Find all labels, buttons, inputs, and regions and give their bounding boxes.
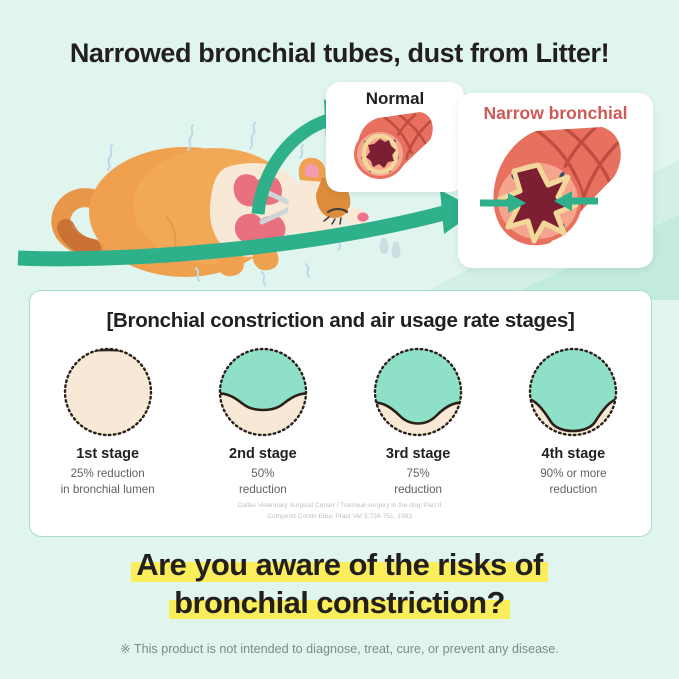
- stage-item-4: 4th stage 90% or more reduction: [503, 343, 643, 497]
- bottom-headline: Are you aware of the risks of bronchial …: [0, 546, 679, 621]
- lumen-stage-4-icon: [503, 343, 643, 441]
- stage-desc-1: 25% reduction in bronchial lumen: [38, 466, 178, 497]
- bronchial-tube-normal-icon: [342, 110, 446, 191]
- infographic-canvas: Narrowed bronchial tubes, dust from Litt…: [0, 0, 679, 679]
- card-normal-bronchial: Normal: [326, 82, 464, 192]
- stage-label-3: 3rd stage: [348, 446, 488, 462]
- card-narrow-bronchial: Narrow bronchial: [458, 93, 653, 268]
- lumen-stage-3-icon: [348, 343, 488, 441]
- bronchial-tube-narrow-icon: [476, 125, 636, 262]
- stage-label-1: 1st stage: [38, 446, 178, 462]
- lumen-stage-2-icon: [193, 343, 333, 441]
- stages-row: 1st stage 25% reduction in bronchial lum…: [30, 343, 651, 497]
- stage-item-2: 2nd stage 50% reduction: [193, 343, 333, 497]
- stage-desc-3: 75% reduction: [348, 466, 488, 497]
- stage-label-2: 2nd stage: [193, 446, 333, 462]
- bottom-headline-line-1: Are you aware of the risks of: [131, 546, 547, 584]
- bottom-headline-line-2: bronchial constriction?: [169, 584, 510, 622]
- stage-desc-2: 50% reduction: [193, 466, 333, 497]
- card-normal-title: Normal: [326, 89, 464, 109]
- stages-panel-title: [Bronchial constriction and air usage ra…: [30, 309, 651, 333]
- disclaimer-text: ※ This product is not intended to diagno…: [0, 641, 679, 656]
- stage-item-1: 1st stage 25% reduction in bronchial lum…: [38, 343, 178, 497]
- stage-desc-4: 90% or more reduction: [503, 466, 643, 497]
- stage-item-3: 3rd stage 75% reduction: [348, 343, 488, 497]
- lumen-stage-1-icon: [38, 343, 178, 441]
- stages-panel: [Bronchial constriction and air usage ra…: [29, 290, 652, 537]
- card-narrow-title: Narrow bronchial: [458, 103, 653, 124]
- citation-text: Dallas Veterinary Surgical Center / Trac…: [30, 501, 651, 523]
- stage-label-4: 4th stage: [503, 446, 643, 462]
- breath-droplets: [380, 238, 401, 258]
